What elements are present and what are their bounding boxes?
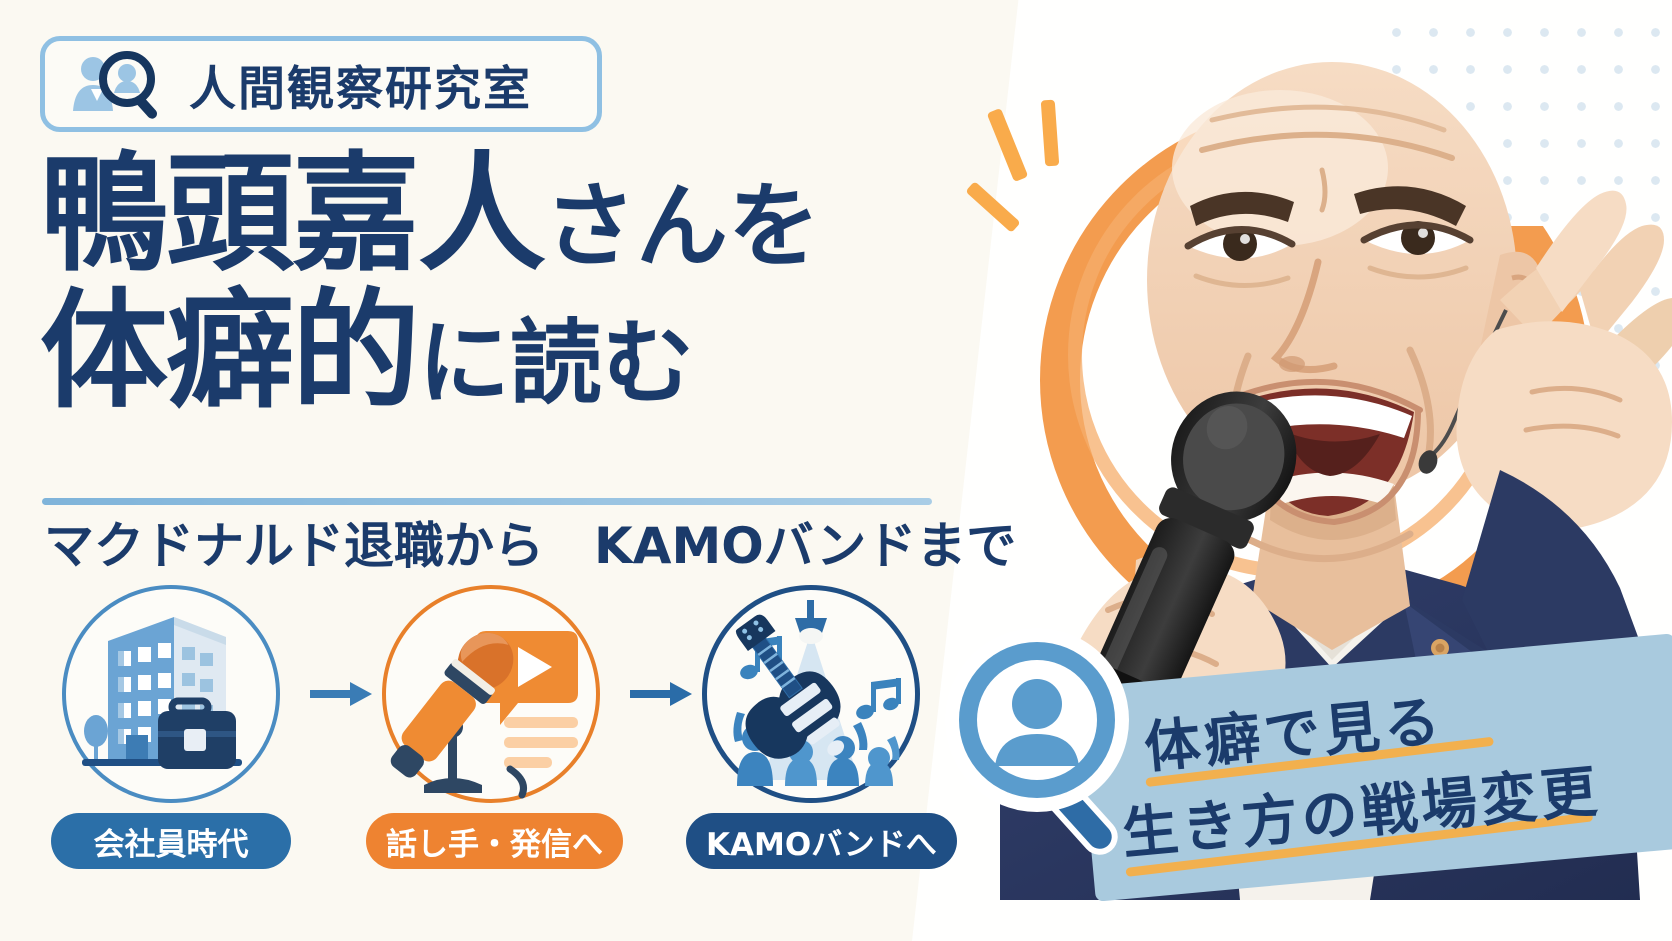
office-building-briefcase-icon — [66, 589, 276, 799]
headline-line-1-suffix: さんを — [544, 173, 820, 280]
arrow-right-icon — [630, 681, 692, 707]
journey-step-1-label: 会社員時代 — [51, 813, 291, 869]
journey-step-2[interactable]: 話し手・発信へ — [366, 585, 616, 869]
journey-step-1[interactable]: 会社員時代 — [46, 585, 296, 869]
headline-line-2: 体癖的に読む — [40, 287, 960, 418]
journey-step-3[interactable]: KAMOバンドへ — [686, 585, 936, 869]
headline-line-1: 鴨頭嘉人さんを — [40, 150, 960, 281]
category-badge[interactable]: 人間観察研究室 — [40, 36, 602, 132]
electric-guitar-crowd-icon — [707, 590, 917, 800]
journey-row: 会社員時代 — [46, 585, 946, 895]
journey-step-1-circle — [62, 585, 280, 803]
journey-step-3-label: KAMOバンドへ — [686, 813, 957, 869]
title-divider — [42, 498, 932, 505]
poster-canvas: 人間観察研究室 鴨頭嘉人さんを 体癖的に読む マクドナルド退職から KAMOバン… — [0, 0, 1672, 941]
person-magnifier-icon — [945, 620, 1155, 860]
badge-label: 人間観察研究室 — [189, 50, 532, 119]
journey-step-2-circle — [382, 585, 600, 803]
microphone-video-bubble-icon — [386, 589, 596, 799]
person-magnifier-icon — [69, 49, 175, 119]
arrow-right-icon — [310, 681, 372, 707]
headline-line-2-suffix: に読む — [418, 310, 694, 417]
headline-line-1-main: 鴨頭嘉人 — [40, 140, 544, 289]
headline-line-2-main: 体癖的 — [40, 277, 418, 426]
journey-step-3-circle — [702, 585, 920, 803]
headline-block: 鴨頭嘉人さんを 体癖的に読む — [40, 150, 960, 417]
subtitle: マクドナルド退職から KAMOバンドまで — [44, 506, 974, 578]
journey-step-2-label: 話し手・発信へ — [366, 813, 623, 869]
